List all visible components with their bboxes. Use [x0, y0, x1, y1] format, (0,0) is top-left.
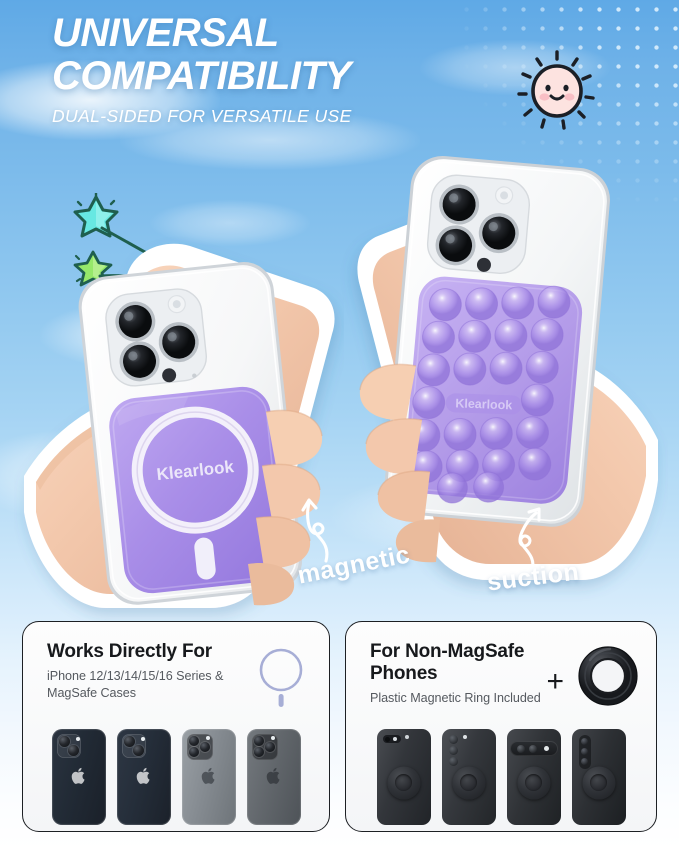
android-thumb-2 [442, 729, 496, 825]
android-thumbnail-row [346, 725, 656, 825]
attached-magnetic-ring [582, 766, 615, 799]
page-title-line1: UNIVERSAL [52, 14, 532, 53]
lens [517, 745, 525, 753]
lens [581, 758, 588, 765]
panel-left-title: Works Directly For [47, 641, 259, 663]
panel-left-subtitle: iPhone 12/13/14/15/16 Series &MagSafe Ca… [47, 668, 259, 701]
sensor [405, 735, 409, 739]
flash [463, 735, 467, 739]
iphone-thumb-black [117, 729, 171, 825]
apple-logo-icon [201, 767, 216, 785]
lens [189, 747, 199, 757]
magsafe-icon [255, 646, 307, 708]
apple-logo-icon [71, 767, 86, 785]
page-title-line2: COMPATIBILITY [52, 57, 532, 96]
android-thumb-4 [572, 729, 626, 825]
lens [254, 736, 264, 746]
flash [393, 737, 397, 741]
lens [133, 745, 144, 756]
panel-left-head: Works Directly For iPhone 12/13/14/15/16… [47, 641, 259, 701]
magnetic-side-photo: Klearlook [14, 160, 344, 630]
flash [206, 736, 210, 740]
brand-logo-right: Klearlook [455, 396, 512, 412]
android-thumb-1 [377, 729, 431, 825]
attached-magnetic-ring [517, 766, 550, 799]
iphone-thumbnail-row [23, 725, 329, 825]
plus-sign: + [546, 667, 564, 697]
lens [581, 738, 588, 745]
lens [581, 748, 588, 755]
flash [76, 737, 80, 741]
lens [449, 746, 458, 755]
lens [385, 737, 390, 742]
lens [59, 736, 70, 747]
flash [141, 737, 145, 741]
apple-logo-icon [136, 767, 151, 785]
lens [200, 742, 210, 752]
attached-magnetic-ring [452, 766, 485, 799]
iphone-thumb-gray [182, 729, 236, 825]
lens [189, 736, 199, 746]
lens [265, 742, 275, 752]
iphone-thumb-navy [52, 729, 106, 825]
panel-for-non-magsafe-phones[interactable]: For Non-MagSafePhones Plastic Magnetic R… [345, 621, 657, 832]
apple-logo-icon [266, 767, 281, 785]
lens [254, 747, 264, 757]
flash [544, 746, 549, 751]
sun-face-icon [514, 48, 600, 134]
lens [68, 745, 79, 756]
flash [271, 736, 275, 740]
magnetic-ring-icon [576, 644, 640, 708]
lens [449, 735, 458, 744]
lens [124, 736, 135, 747]
attached-magnetic-ring [387, 766, 420, 799]
infographic-stage: UNIVERSAL COMPATIBILITY DUAL-SIDED FOR V… [0, 0, 679, 849]
lens [449, 757, 458, 766]
panel-works-directly-for[interactable]: Works Directly For iPhone 12/13/14/15/16… [22, 621, 330, 832]
iphone-thumb-titanium [247, 729, 301, 825]
android-thumb-3 [507, 729, 561, 825]
header-block: UNIVERSAL COMPATIBILITY DUAL-SIDED FOR V… [52, 14, 532, 127]
page-subtitle: DUAL-SIDED FOR VERSATILE USE [52, 106, 532, 127]
lens [529, 745, 537, 753]
